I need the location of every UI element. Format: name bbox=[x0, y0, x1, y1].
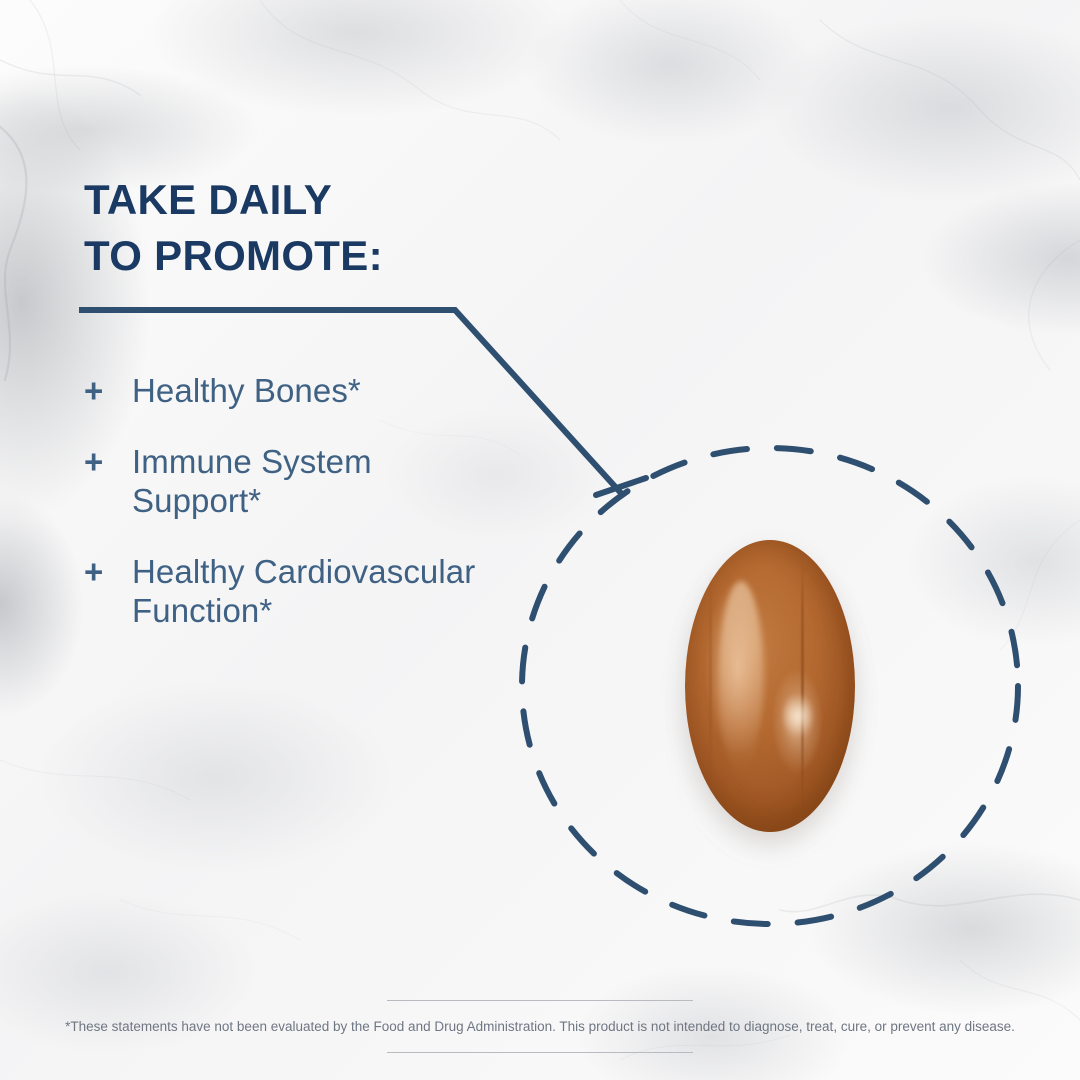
softgel-left-ridge bbox=[709, 569, 712, 803]
benefit-label: Healthy Bones* bbox=[132, 372, 361, 411]
softgel-specular-highlight bbox=[784, 692, 813, 739]
product-callout bbox=[518, 444, 1022, 928]
softgel-seam-ridge bbox=[801, 558, 804, 815]
fda-disclaimer: *These statements have not been evaluate… bbox=[0, 1001, 1080, 1052]
plus-icon: + bbox=[84, 443, 132, 482]
benefits-list: + Healthy Bones* + Immune System Support… bbox=[84, 372, 504, 631]
footer-rule-bottom bbox=[387, 1052, 693, 1053]
page-title: TAKE DAILY TO PROMOTE: bbox=[84, 172, 644, 284]
promo-panel: TAKE DAILY TO PROMOTE: + Healthy Bones* … bbox=[0, 0, 1080, 1080]
plus-icon: + bbox=[84, 553, 132, 592]
softgel-gloss-streak bbox=[719, 581, 763, 774]
list-item: + Healthy Cardiovascular Function* bbox=[84, 553, 504, 631]
footer: *These statements have not been evaluate… bbox=[0, 1000, 1080, 1053]
list-item: + Healthy Bones* bbox=[84, 372, 504, 411]
benefit-label: Healthy Cardiovascular Function* bbox=[132, 553, 504, 631]
softgel-capsule bbox=[685, 540, 855, 832]
plus-icon: + bbox=[84, 372, 132, 411]
list-item: + Immune System Support* bbox=[84, 443, 504, 521]
benefit-label: Immune System Support* bbox=[132, 443, 504, 521]
